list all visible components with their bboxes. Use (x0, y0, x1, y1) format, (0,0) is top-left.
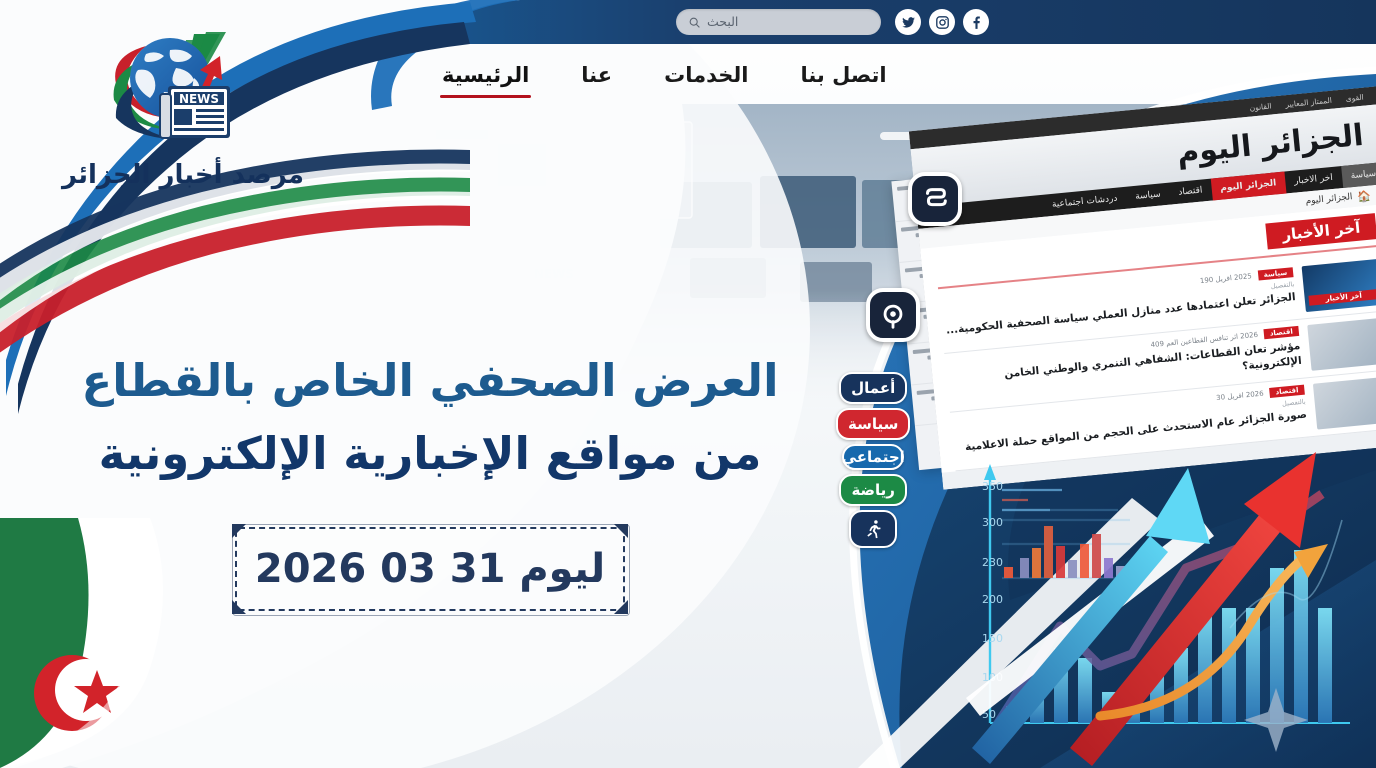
category-chip-business[interactable]: أعمال (839, 372, 907, 404)
logo-title: مرصد أخبار الجزائر (62, 160, 304, 190)
badge-corner (614, 600, 628, 614)
mockup-nav-item: سياسة (1125, 183, 1170, 209)
article-date: 2026 افريل 30 (1216, 390, 1264, 403)
article-thumbnail: آخر الأخبار (1302, 259, 1376, 312)
article-tag: اقتصاد (1263, 326, 1299, 339)
mockup-nav-item: سياسة (1341, 162, 1376, 188)
chip-label: أعمال (851, 379, 895, 397)
site-logo[interactable]: NEWS مرصد أخبار الجزائر (58, 26, 308, 190)
home-icon: 🏠 (1357, 189, 1372, 203)
globe-news-logo-icon: NEWS (108, 26, 258, 154)
news-site-mockup: القوى الممتاز المعايير القانون الجزائر ا… (909, 86, 1376, 489)
hero-section: العرض الصحفي الخاص بالقطاع من مواقع الإخ… (60, 352, 800, 611)
nav-item-contact[interactable]: اتصل بنا (774, 59, 912, 91)
article-tag: سياسة (1257, 267, 1293, 280)
nav-item-label: الخدمات (664, 63, 748, 87)
target-glyph-icon (878, 300, 908, 330)
chart-svg: 350 300 230 200 150 100 50 (950, 448, 1376, 768)
mockup-nav-item: اقتصاد (1168, 179, 1212, 205)
nav-item-label: اتصل بنا (800, 63, 886, 87)
svg-text:230: 230 (982, 556, 1003, 569)
article-thumbnail (1313, 376, 1376, 429)
abstract-glyph-icon (920, 184, 950, 214)
chip-label: سياسة (848, 415, 898, 433)
thumbnail-badge: آخر الأخبار (1308, 289, 1376, 306)
search-icon (688, 16, 701, 29)
nav-item-label: عنا (581, 63, 612, 87)
hero-title-line2: من مواقع الإخبارية الإلكترونية (60, 425, 800, 484)
instagram-icon[interactable] (929, 9, 955, 35)
date-label: ليوم 31 03 2026 (255, 546, 605, 592)
mini-bar-panel (1002, 490, 1146, 578)
article-thumbnail (1307, 318, 1376, 371)
social-links (895, 9, 989, 35)
chip-label: اجتماعي (842, 448, 905, 466)
svg-text:150: 150 (982, 632, 1003, 645)
facebook-icon[interactable] (963, 9, 989, 35)
topbar: البحث (676, 0, 1376, 44)
category-chip-running[interactable] (849, 510, 897, 548)
hero-title-line1: العرض الصحفي الخاص بالقطاع (60, 352, 800, 411)
nav-item-home[interactable]: الرئيسية (416, 59, 555, 91)
chip-label: رياضة (851, 481, 895, 499)
category-chip-list: أعمال سياسة اجتماعي رياضة (836, 372, 910, 548)
mockup-section-title: آخر الأخبار (1265, 213, 1376, 249)
nav-item-label: الرئيسية (442, 63, 529, 87)
poster-canvas: NEWS (0, 0, 1376, 768)
logo-mark: NEWS (108, 26, 258, 154)
search-placeholder: البحث (707, 16, 738, 29)
svg-text:300: 300 (982, 516, 1003, 529)
category-chip-sports[interactable]: رياضة (839, 474, 907, 506)
mockup-brand-title: الجزائر اليوم (1175, 117, 1365, 170)
nav-item-services[interactable]: الخدمات (638, 59, 774, 91)
nav-item-about[interactable]: عنا (555, 59, 638, 91)
article-date: 2025 افريل 190 (1200, 272, 1253, 285)
badge-corner (614, 524, 628, 538)
date-badge: ليوم 31 03 2026 (235, 527, 625, 611)
mockup-breadcrumb-label: الجزائر اليوم (1305, 192, 1353, 206)
brand-glyph-badge-one[interactable] (908, 172, 962, 226)
logo-news-word: NEWS (179, 92, 219, 106)
search-input[interactable]: البحث (676, 9, 881, 35)
badge-corner (232, 600, 246, 614)
statistics-chart: 350 300 230 200 150 100 50 (950, 448, 1376, 768)
svg-text:200: 200 (982, 593, 1003, 606)
svg-text:350: 350 (982, 480, 1003, 493)
badge-corner (232, 524, 246, 538)
main-navigation: اتصل بنا الخدمات عنا الرئيسية (416, 44, 1376, 106)
article-tag: اقتصاد (1269, 385, 1305, 398)
category-chip-politics[interactable]: سياسة (836, 408, 910, 440)
category-chip-social[interactable]: اجتماعي (842, 444, 904, 470)
running-person-icon (863, 518, 883, 540)
brand-glyph-badge-two[interactable] (866, 288, 920, 342)
twitter-icon[interactable] (895, 9, 921, 35)
